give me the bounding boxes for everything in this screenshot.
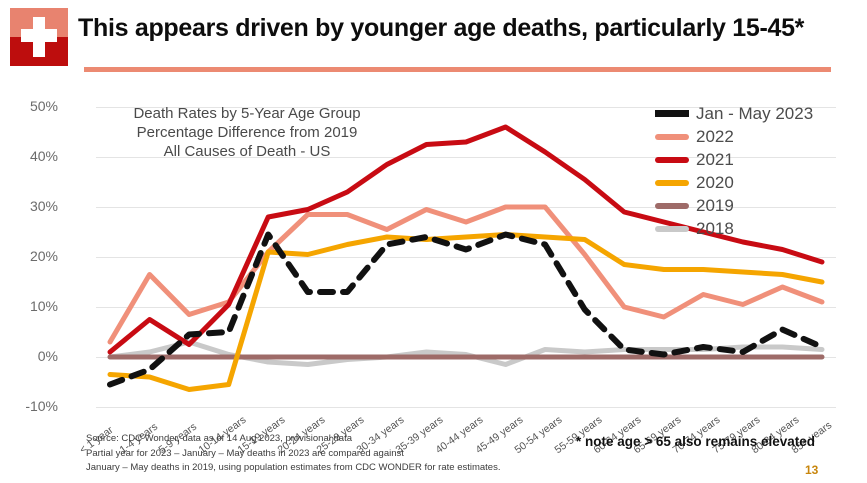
footer-source: Source: CDC Wonder, data as of 14 Aug 20…: [86, 432, 500, 476]
chart-container: -10%0%10%20%30%40%50% < 1 year1-4 years5…: [0, 92, 867, 422]
legend-label: 2020: [696, 173, 734, 193]
legend-label: Jan - May 2023: [696, 104, 813, 124]
legend-item[interactable]: 2021: [655, 148, 855, 171]
footer-note: * note age > 65 also remains elevated: [576, 434, 815, 449]
legend-item[interactable]: 2020: [655, 171, 855, 194]
legend-swatch-icon: [655, 203, 689, 209]
legend-label: 2021: [696, 150, 734, 170]
legend-item[interactable]: 2022: [655, 125, 855, 148]
y-axis-tick-label: 40%: [0, 148, 58, 164]
legend-swatch-icon: [655, 134, 689, 140]
series-line-jan-may-2023: [110, 235, 822, 385]
y-axis-tick-label: 20%: [0, 248, 58, 264]
legend-item[interactable]: 2018: [655, 217, 855, 240]
legend-label: 2018: [696, 219, 734, 239]
slide-title: This appears driven by younger age death…: [78, 14, 804, 43]
y-axis-tick-label: 10%: [0, 298, 58, 314]
footer-source-line-2: Partial year for 2023 – January – May de…: [86, 447, 500, 462]
legend-item[interactable]: 2019: [655, 194, 855, 217]
legend-label: 2022: [696, 127, 734, 147]
legend-swatch-icon: [655, 157, 689, 163]
logo-cross-horizontal: [21, 29, 57, 42]
series-line-2020: [110, 235, 822, 390]
footer-source-line-3: January – May deaths in 2019, using popu…: [86, 461, 500, 476]
legend-swatch-icon: [655, 180, 689, 186]
legend-swatch-icon: [655, 226, 689, 232]
chart-caption: Death Rates by 5-Year Age Group Percenta…: [112, 104, 382, 161]
y-axis-tick-label: 30%: [0, 198, 58, 214]
gridline: [96, 407, 836, 408]
chart-subtitle: Percentage Difference from 2019: [112, 123, 382, 142]
series-line-2018: [110, 342, 822, 365]
chart-legend: Jan - May 202320222021202020192018: [655, 102, 855, 240]
legend-item[interactable]: Jan - May 2023: [655, 102, 855, 125]
swiss-cross-logo: [10, 8, 68, 66]
chart-title: Death Rates by 5-Year Age Group: [112, 104, 382, 123]
y-axis-tick-label: 0%: [0, 348, 58, 364]
y-axis-tick-label: 50%: [0, 98, 58, 114]
y-axis-tick-label: -10%: [0, 398, 58, 414]
chart-subtitle-2: All Causes of Death - US: [112, 142, 382, 161]
legend-label: 2019: [696, 196, 734, 216]
legend-swatch-icon: [655, 110, 689, 117]
footer-source-line-1: Source: CDC Wonder, data as of 14 Aug 20…: [86, 432, 500, 447]
title-divider: [84, 67, 831, 72]
page-number: 13: [805, 463, 818, 477]
